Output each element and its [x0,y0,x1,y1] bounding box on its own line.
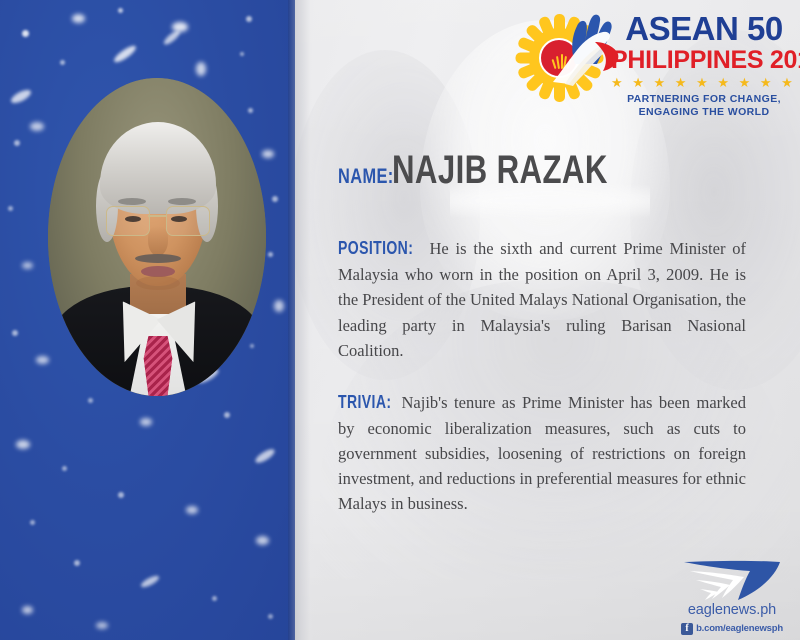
name-label: NAME: [338,165,394,189]
name-row: NAME: NAJIB RAZAK [338,148,746,193]
position-paragraph: POSITION:He is the sixth and current Pri… [338,235,746,363]
asean50-logo: ASEAN 50 PHILIPPINES 2017 ★ ★ ★ ★ ★ ★ ★ … [505,6,797,112]
trivia-text: Najib's tenure as Prime Minister has bee… [338,393,746,514]
eaglenews-footer[interactable]: eaglenews.ph f b.com/eaglenewsph [676,558,788,636]
portrait-photo [48,78,266,396]
page-title: NAJIB RAZAK [392,148,608,193]
facebook-icon: f [681,623,693,635]
star-row: ★ ★ ★ ★ ★ ★ ★ ★ ★ ★ ★ [611,76,797,89]
trivia-label: TRIVIA: [338,389,391,416]
panel-edge-shadow [288,0,314,640]
facebook-link[interactable]: f b.com/eaglenewsph [681,623,783,635]
eaglenews-site-label: eaglenews.ph [676,603,788,618]
tagline-line-1: PARTNERING FOR CHANGE, [611,93,797,106]
logo-tagline: PARTNERING FOR CHANGE, ENGAGING THE WORL… [611,93,797,119]
logo-title: ASEAN 50 [611,12,797,45]
logo-subtitle: PHILIPPINES 2017 [611,48,797,73]
position-label: POSITION: [338,235,413,262]
trivia-paragraph: TRIVIA:Najib's tenure as Prime Minister … [338,389,746,517]
tagline-line-2: ENGAGING THE WORLD [611,106,797,119]
eaglenews-eagle-icon [676,558,788,602]
profile-content: NAME: NAJIB RAZAK POSITION:He is the six… [338,148,746,542]
logo-wordmark: ASEAN 50 PHILIPPINES 2017 ★ ★ ★ ★ ★ ★ ★ … [611,6,797,119]
profile-card: ASEAN 50 PHILIPPINES 2017 ★ ★ ★ ★ ★ ★ ★ … [0,0,800,640]
facebook-handle: b.com/eaglenewsph [696,623,783,634]
